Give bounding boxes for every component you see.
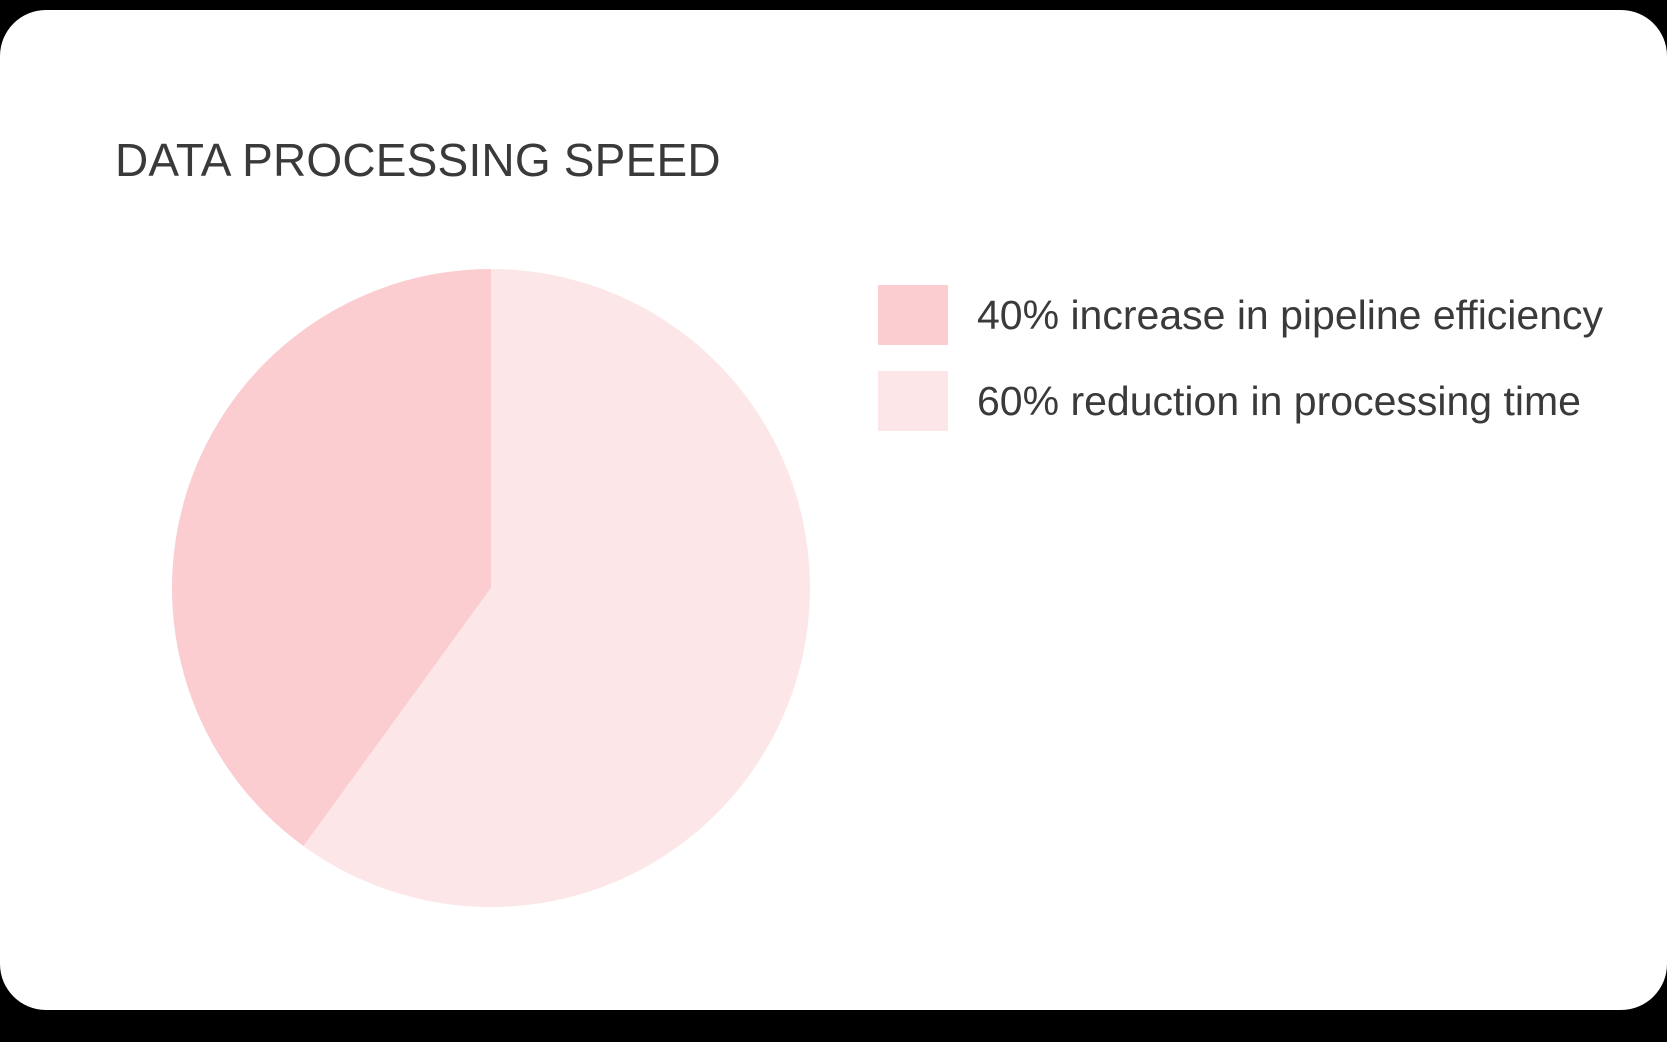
pie-chart-svg xyxy=(0,10,1000,1010)
legend-swatch-icon xyxy=(878,371,948,431)
pie-chart xyxy=(0,10,1000,1010)
legend-item[interactable]: 60% reduction in processing time xyxy=(878,358,1598,444)
legend-swatch-icon xyxy=(878,285,948,345)
chart-legend: 40% increase in pipeline efficiency 60% … xyxy=(878,272,1598,444)
legend-item-label: 40% increase in pipeline efficiency xyxy=(977,291,1603,339)
legend-item-label: 60% reduction in processing time xyxy=(977,377,1581,425)
legend-item[interactable]: 40% increase in pipeline efficiency xyxy=(878,272,1598,358)
chart-card: DATA PROCESSING SPEED 40% increase in pi… xyxy=(0,10,1667,1010)
screenshot-viewport: DATA PROCESSING SPEED 40% increase in pi… xyxy=(0,0,1667,1042)
